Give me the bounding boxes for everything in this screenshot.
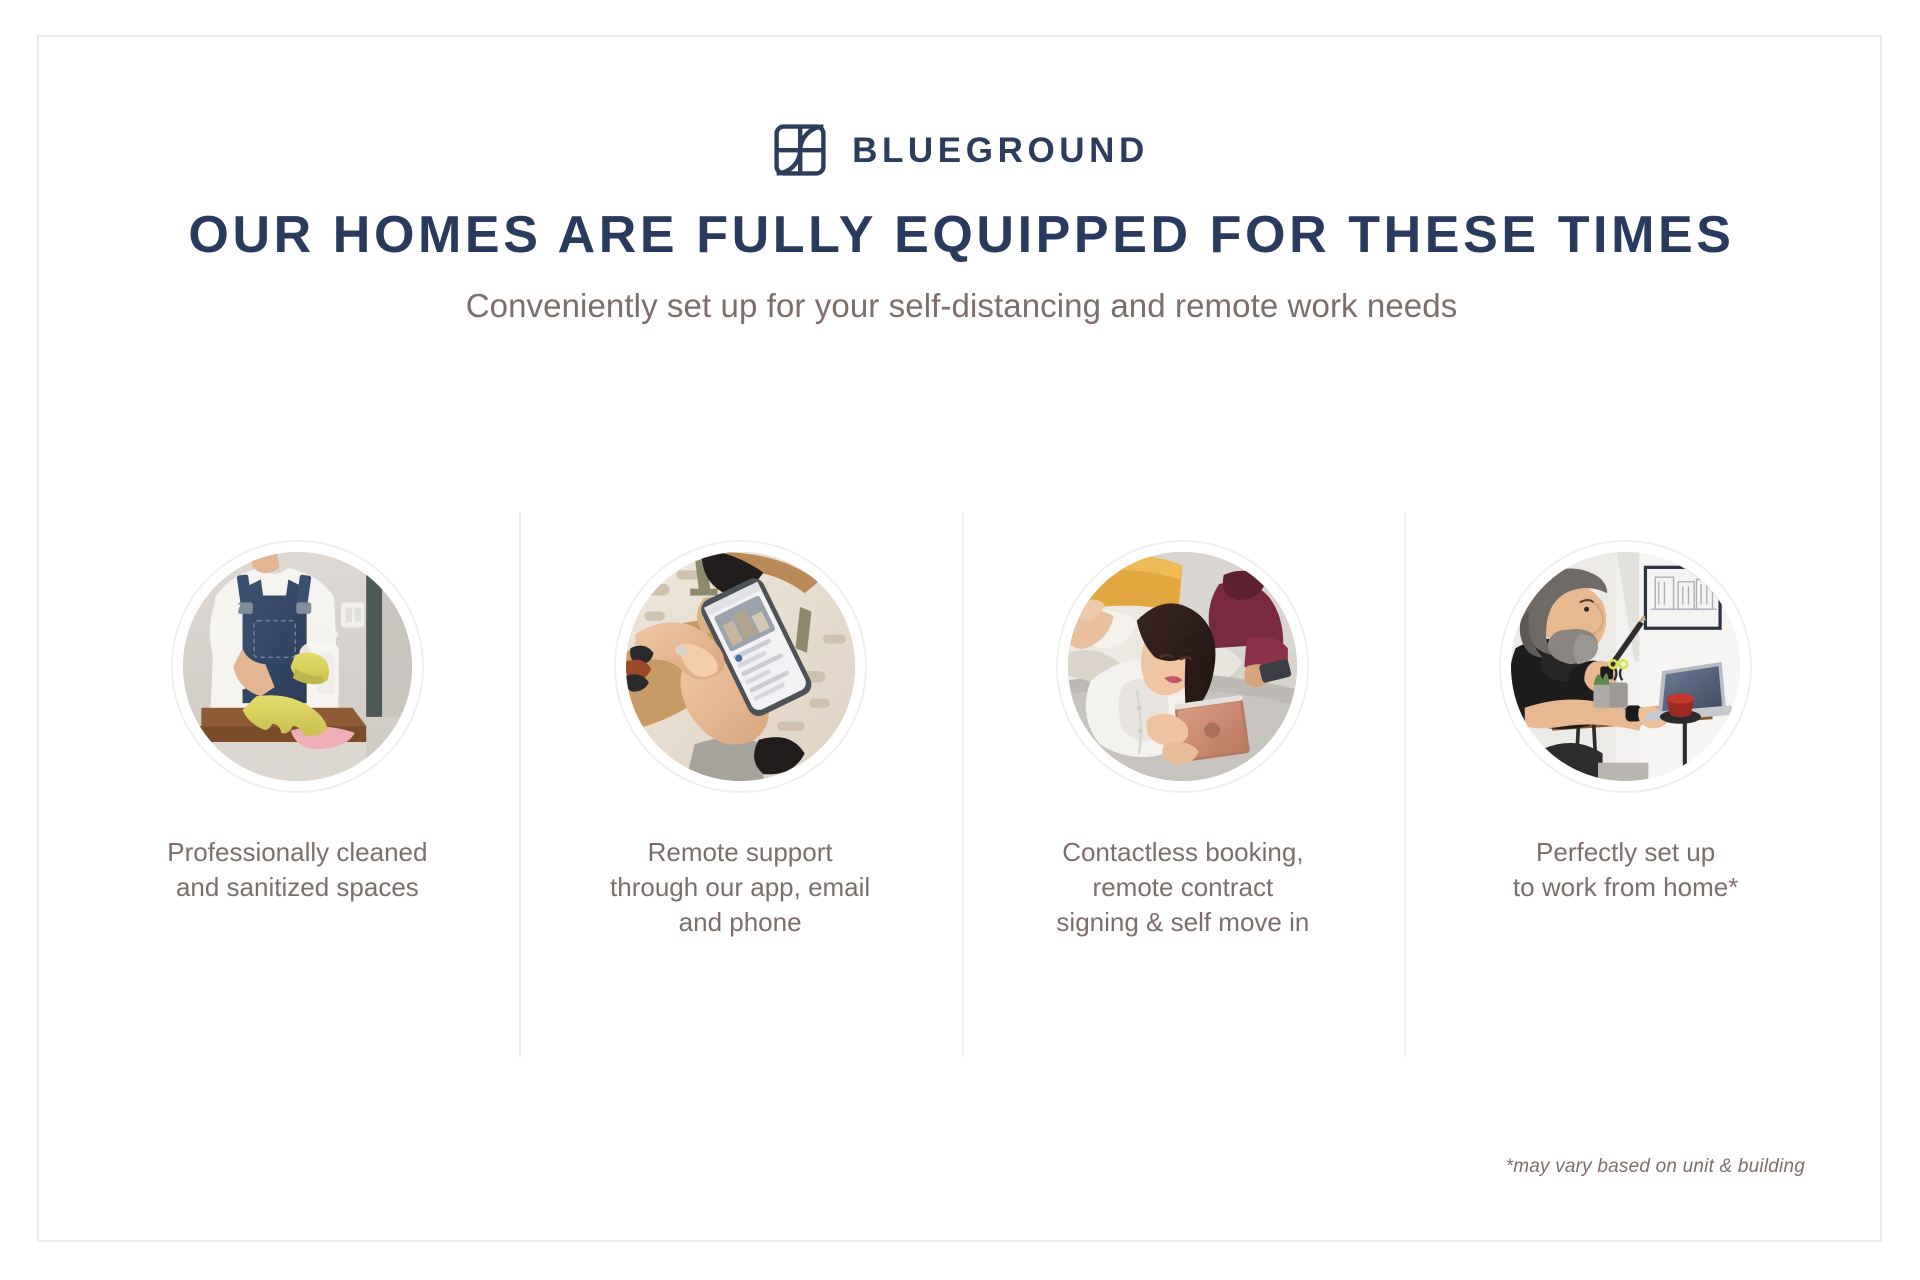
feature-column-work-from-home: Perfectly set up to work from home* xyxy=(1404,512,1847,1057)
content-frame: BLUEGROUND OUR HOMES ARE FULLY EQUIPPED … xyxy=(37,35,1882,1242)
man-working-from-home-at-desk-photo xyxy=(1511,552,1740,781)
feature-columns: Professionally cleaned and sanitized spa… xyxy=(76,512,1847,1057)
infographic-page: BLUEGROUND OUR HOMES ARE FULLY EQUIPPED … xyxy=(0,0,1920,1280)
feature-caption: Remote support through our app, email an… xyxy=(610,835,870,939)
brand-lockup: BLUEGROUND xyxy=(39,124,1884,176)
feature-caption: Contactless booking, remote contract sig… xyxy=(1056,835,1309,939)
page-title: OUR HOMES ARE FULLY EQUIPPED FOR THESE T… xyxy=(39,205,1884,265)
hands-holding-phone-app-photo xyxy=(626,552,855,781)
feature-caption: Perfectly set up to work from home* xyxy=(1513,835,1738,905)
photo-ring xyxy=(1056,540,1309,793)
brand-wordmark: BLUEGROUND xyxy=(852,133,1149,168)
feature-column-cleaning: Professionally cleaned and sanitized spa… xyxy=(76,512,519,1057)
blueground-square-logo-icon xyxy=(774,124,826,176)
footnote-disclaimer: *may vary based on unit & building xyxy=(1506,1156,1805,1178)
woman-on-bed-with-tablet-photo xyxy=(1068,552,1297,781)
photo-ring xyxy=(614,540,867,793)
feature-column-contactless-booking: Contactless booking, remote contract sig… xyxy=(962,512,1405,1057)
feature-caption: Professionally cleaned and sanitized spa… xyxy=(167,835,427,905)
cleaning-person-sanitizing-counter-photo xyxy=(183,552,412,781)
page-subtitle: Conveniently set up for your self-distan… xyxy=(39,287,1884,325)
feature-column-remote-support: Remote support through our app, email an… xyxy=(519,512,962,1057)
photo-ring xyxy=(1499,540,1752,793)
photo-ring xyxy=(171,540,424,793)
